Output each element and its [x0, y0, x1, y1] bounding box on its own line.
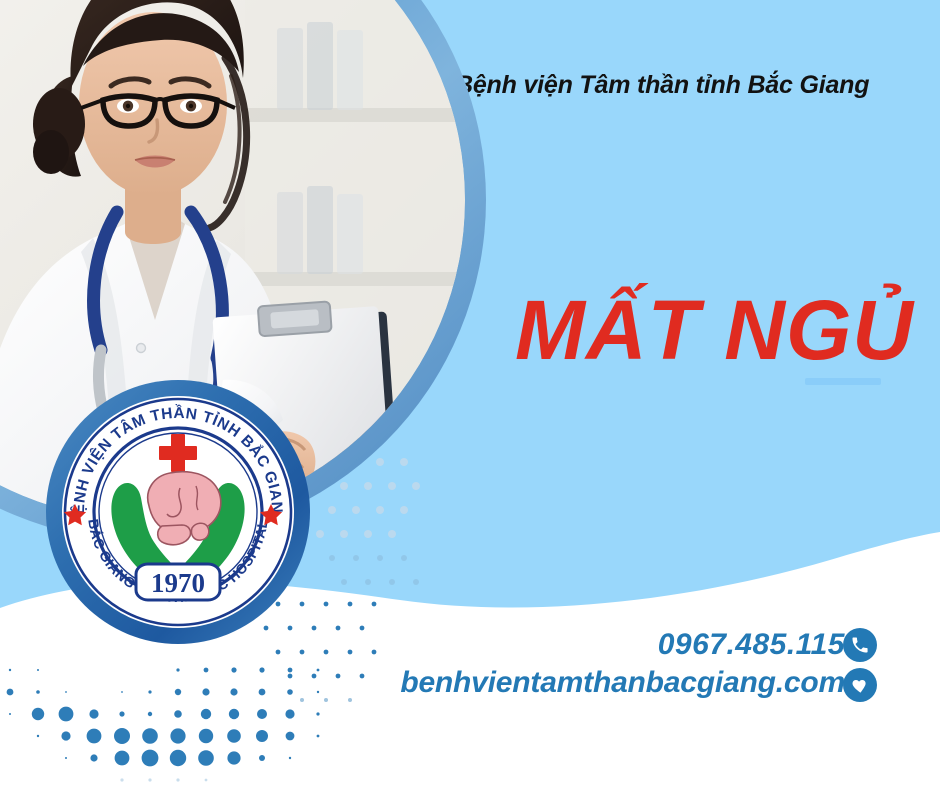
headline-underline	[805, 378, 881, 385]
main-headline: MẤT NGỦ	[515, 288, 914, 372]
hospital-logo: BỆNH VIỆN TÂM THẦN TỈNH BẮC GIANG BẮC GI…	[44, 378, 312, 646]
contact-icon-group	[843, 628, 877, 702]
heart-icon[interactable]	[843, 668, 877, 702]
phone-icon[interactable]	[843, 628, 877, 662]
logo-year-banner: 1970	[136, 564, 220, 600]
logo-year: 1970	[151, 568, 205, 598]
halftone-dot-pattern-bottom-left	[0, 658, 340, 788]
page-title: Bệnh viện Tâm thần tỉnh Bắc Giang	[455, 72, 915, 100]
poster-canvas: BỆNH VIỆN TÂM THẦN TỈNH BẮC GIANG BẮC GI…	[0, 0, 940, 788]
